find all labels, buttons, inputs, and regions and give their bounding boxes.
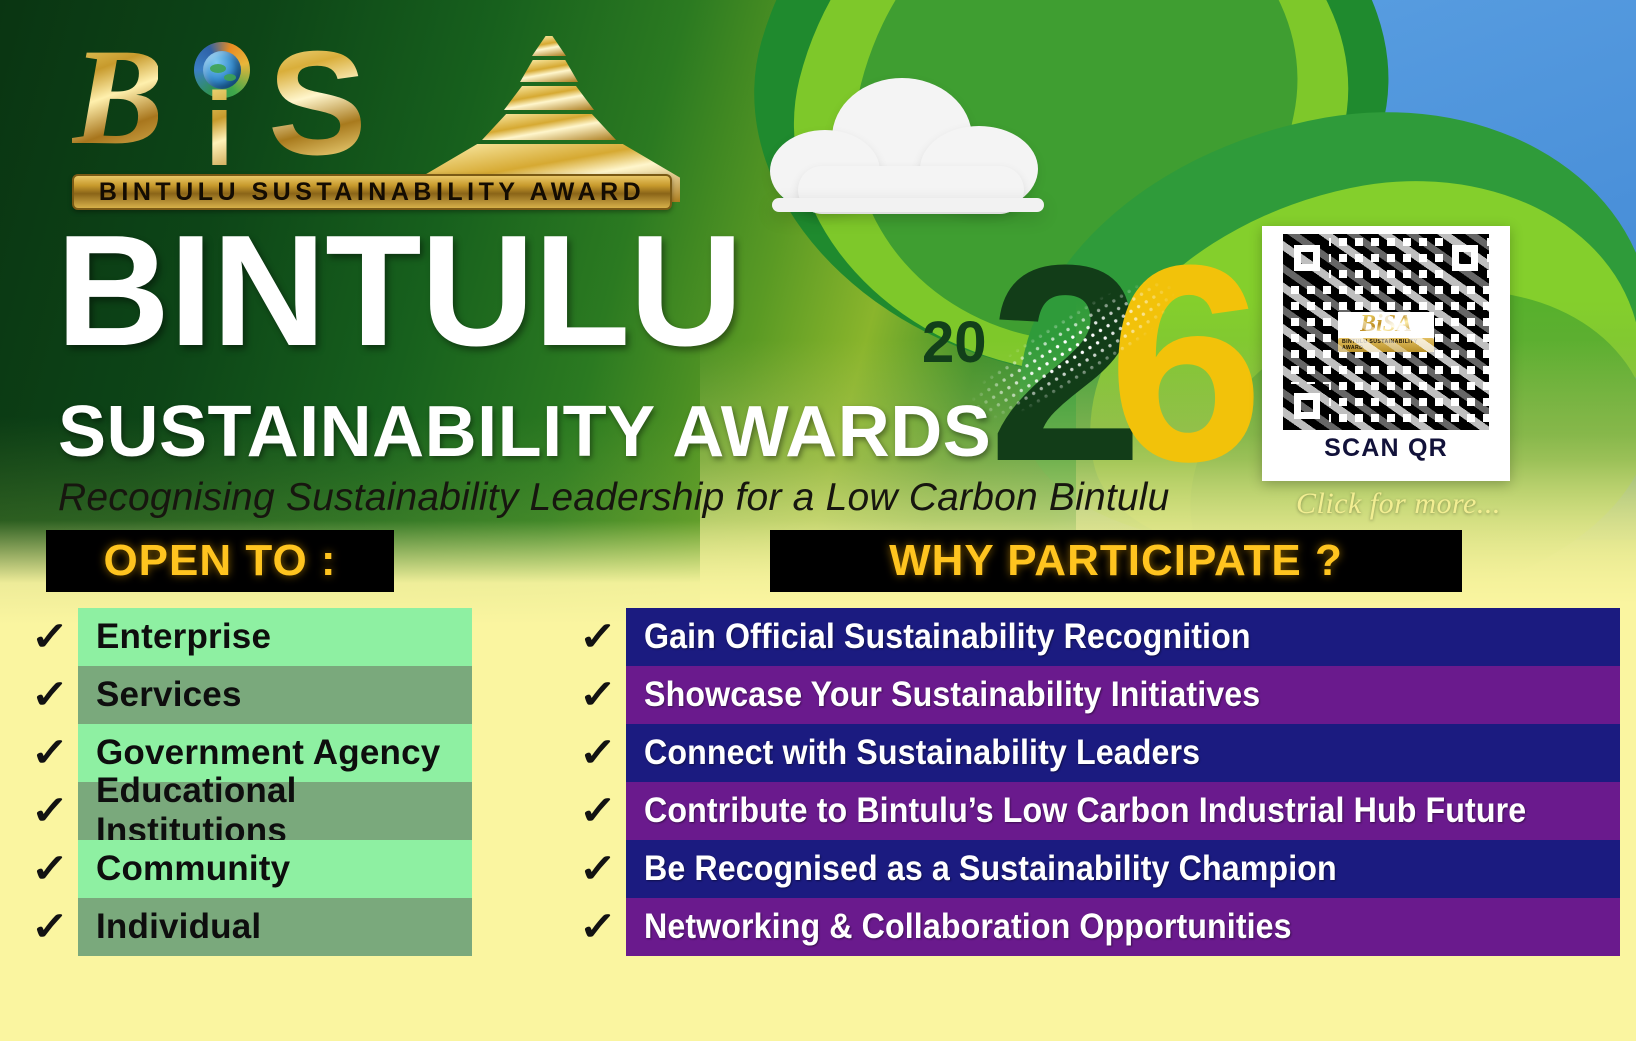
qr-code-icon[interactable]: BiSA BINTULU SUSTAINABILITY AWARD [1283,234,1489,430]
list-item-body: Contribute to Bintulu’s Low Carbon Indus… [626,782,1620,840]
section-header-open-to: OPEN TO : [46,530,394,592]
check-icon: ✓ [18,907,82,947]
list-item[interactable]: ✓ Be Recognised as a Sustainability Cham… [570,840,1620,898]
poster-canvas: B i S BINTULU SUSTAINABILITY AWARD BINTU… [0,0,1636,1041]
list-item-label: Showcase Your Sustainability Initiatives [644,675,1260,715]
qr-click-for-more-link[interactable]: Click for more... [1296,487,1501,521]
check-icon: ✓ [18,617,82,657]
open-to-list: ✓ Enterprise ✓ Services ✓ Government Age… [22,608,472,956]
list-item-body: Individual [78,898,472,956]
check-icon: ✓ [566,733,630,773]
check-icon: ✓ [18,675,82,715]
list-item[interactable]: ✓ Connect with Sustainability Leaders [570,724,1620,782]
list-item[interactable]: ✓ Showcase Your Sustainability Initiativ… [570,666,1620,724]
list-item-body: Community [78,840,472,898]
check-icon: ✓ [18,849,82,889]
year-graphic: 2 6 20 [910,232,1220,492]
qr-finder-top-right [1443,236,1487,280]
qr-scan-label: SCAN QR [1324,434,1448,463]
check-icon: ✓ [566,907,630,947]
list-item-label: Gain Official Sustainability Recognition [644,617,1251,657]
check-icon: ✓ [566,791,630,831]
list-item-label: Government Agency [96,733,440,773]
qr-finder-bottom-left [1285,384,1329,428]
list-item-body: Gain Official Sustainability Recognition [626,608,1620,666]
logo-letter-b-icon: B [72,28,158,166]
check-icon: ✓ [18,791,82,831]
bisa-logo[interactable]: B i S BINTULU SUSTAINABILITY AWARD [72,22,672,212]
list-item-label: Connect with Sustainability Leaders [644,733,1200,773]
list-item-body: Be Recognised as a Sustainability Champi… [626,840,1620,898]
list-item[interactable]: ✓ Networking & Collaboration Opportuniti… [570,898,1620,956]
list-item-body: Connect with Sustainability Leaders [626,724,1620,782]
list-item-body: Networking & Collaboration Opportunities [626,898,1620,956]
qr-logo-word: BiSA [1360,312,1412,336]
list-item-label: Contribute to Bintulu’s Low Carbon Indus… [644,791,1526,831]
section-header-open-to-label: OPEN TO : [103,536,336,586]
list-item-body: Showcase Your Sustainability Initiatives [626,666,1620,724]
section-header-why-participate-label: WHY PARTICIPATE ? [889,536,1343,586]
logo-letter-s-icon: S [268,30,363,178]
qr-finder-top-left [1285,236,1329,280]
list-item-body: Services [78,666,472,724]
check-icon: ✓ [566,849,630,889]
logo-letter-i-icon: i [205,78,234,182]
list-item-label: Be Recognised as a Sustainability Champi… [644,849,1337,889]
list-item-label: Individual [96,907,261,947]
qr-embedded-logo: BiSA BINTULU SUSTAINABILITY AWARD [1338,312,1434,352]
check-icon: ✓ [18,733,82,773]
list-item-body: Educational Institutions [78,782,472,840]
section-header-why-participate: WHY PARTICIPATE ? [770,530,1462,592]
qr-logo-band: BINTULU SUSTAINABILITY AWARD [1338,338,1434,352]
list-item[interactable]: ✓ Community [22,840,472,898]
year-prefix: 20 [922,314,987,372]
list-item[interactable]: ✓ Individual [22,898,472,956]
list-item[interactable]: ✓ Educational Institutions [22,782,472,840]
page-title: BINTULU [56,212,742,370]
list-item-body: Enterprise [78,608,472,666]
list-item-label: Educational Institutions [96,771,472,851]
pyramid-tower-icon [420,36,680,196]
list-item-label: Community [96,849,290,889]
page-subtitle: SUSTAINABILITY AWARDS [58,396,991,468]
list-item[interactable]: ✓ Gain Official Sustainability Recogniti… [570,608,1620,666]
cloud-icon [770,78,1050,208]
list-item[interactable]: ✓ Contribute to Bintulu’s Low Carbon Ind… [570,782,1620,840]
year-digit-6: 6 [1108,224,1264,504]
list-item[interactable]: ✓ Services [22,666,472,724]
qr-card[interactable]: BiSA BINTULU SUSTAINABILITY AWARD SCAN Q… [1262,226,1510,481]
check-icon: ✓ [566,617,630,657]
list-item-label: Enterprise [96,617,271,657]
list-item[interactable]: ✓ Enterprise [22,608,472,666]
why-participate-list: ✓ Gain Official Sustainability Recogniti… [570,608,1620,956]
check-icon: ✓ [566,675,630,715]
list-item-label: Networking & Collaboration Opportunities [644,907,1292,947]
bisa-logo-wordmark: B i S [72,22,672,172]
list-item-label: Services [96,675,242,715]
